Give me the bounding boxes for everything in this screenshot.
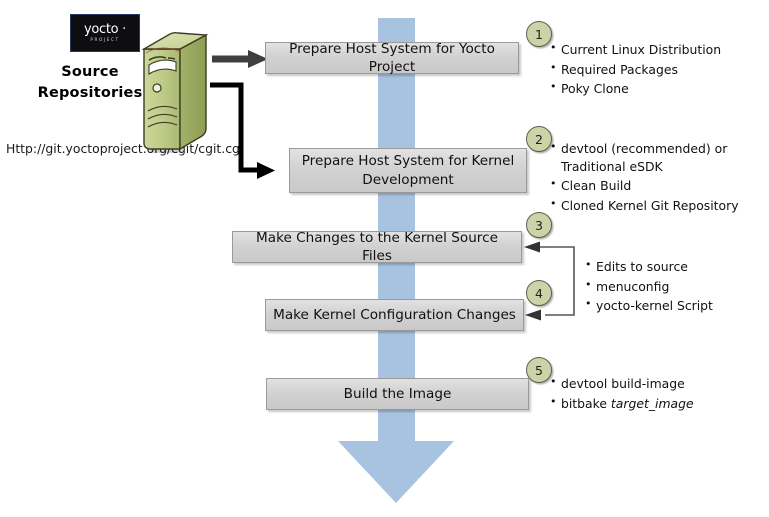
note-text: devtool build-image: [561, 376, 685, 391]
note-item: Clean Build: [549, 177, 739, 195]
source-repositories-label-line2: Repositories: [32, 83, 148, 104]
note-item: Poky Clone: [549, 80, 721, 98]
note-item: Cloned Kernel Git Repository: [549, 197, 739, 215]
notes-step-2: devtool (recommended) or Traditional eSD…: [549, 140, 739, 216]
notes-step-1: Current Linux Distribution Required Pack…: [549, 41, 721, 100]
note-text-italic: target_image: [611, 396, 694, 411]
source-repositories-label-line1: Source: [32, 62, 148, 83]
note-item: bitbake target_image: [549, 395, 694, 413]
note-item: Edits to source: [584, 258, 713, 276]
process-box-step-3[interactable]: Make Changes to the Kernel Source Files: [232, 231, 522, 263]
source-repositories-label: Source Repositories: [32, 62, 148, 104]
note-text: bitbake: [561, 396, 611, 411]
process-box-step-5[interactable]: Build the Image: [266, 378, 529, 410]
process-box-step-4[interactable]: Make Kernel Configuration Changes: [265, 299, 524, 331]
server-tower-icon: [136, 29, 214, 153]
note-item: Required Packages: [549, 61, 721, 79]
note-item: menuconfig: [584, 278, 713, 296]
step-badge-4: 4: [526, 280, 552, 306]
note-item: devtool build-image: [549, 375, 694, 393]
note-item: Current Linux Distribution: [549, 41, 721, 59]
flow-arrowhead-icon: [338, 441, 454, 503]
yocto-logo-sub-text: PROJECT: [90, 38, 119, 42]
process-box-step-1[interactable]: Prepare Host System for Yocto Project: [265, 42, 519, 74]
notes-step-5: devtool build-image bitbake target_image: [549, 375, 694, 414]
yocto-logo-main-text: yocto ·: [84, 23, 126, 36]
note-item: devtool (recommended) or Traditional eSD…: [549, 140, 739, 175]
notes-steps-3-and-4: Edits to source menuconfig yocto-kernel …: [584, 258, 713, 317]
note-item: yocto-kernel Script: [584, 297, 713, 315]
process-box-step-2[interactable]: Prepare Host System for Kernel Developme…: [289, 148, 527, 193]
yocto-kernel-workflow-diagram: yocto · PROJECT Source Repositories Http…: [0, 0, 769, 517]
yocto-project-logo: yocto · PROJECT: [70, 14, 140, 52]
